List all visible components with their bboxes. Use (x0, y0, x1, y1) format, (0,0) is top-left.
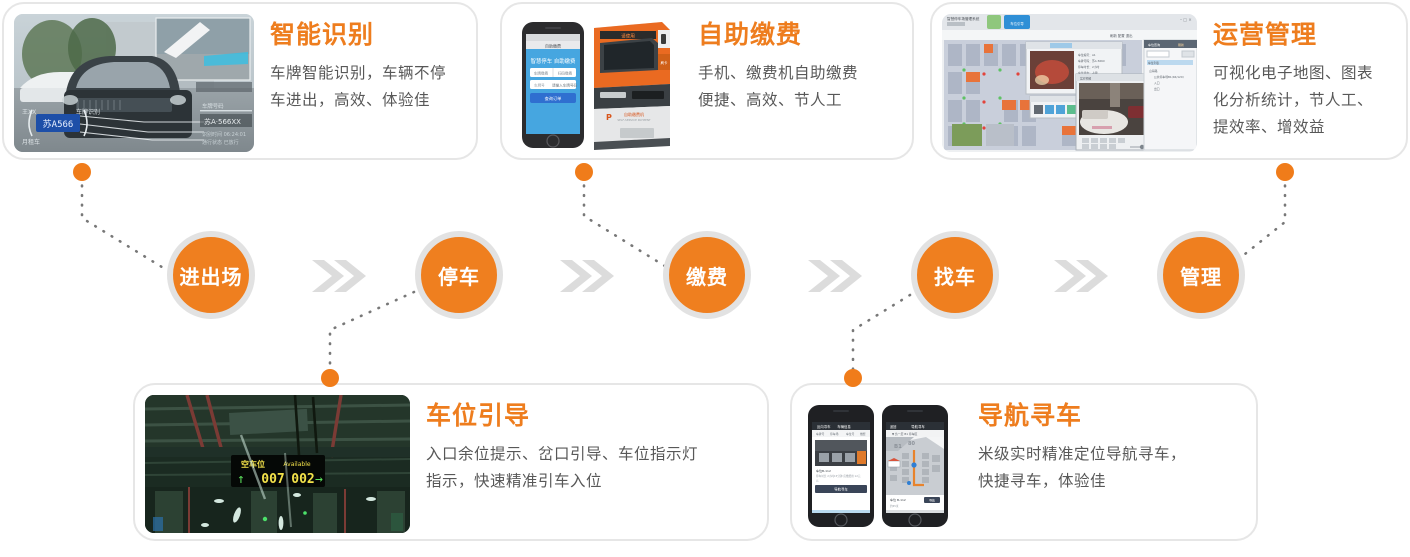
svg-text:停车时长：2小时: 停车时长：2小时 (1078, 65, 1100, 69)
svg-text:通行状态 已放行: 通行状态 已放行 (202, 139, 239, 146)
card-text-block: 自助缴费 手机、缴费机自助缴费 便捷、高效、节人工 (682, 14, 902, 114)
card-title: 车位引导 (426, 403, 757, 431)
svg-text:车位引导: 车位引导 (1010, 21, 1024, 26)
svg-text:苏A566: 苏A566 (43, 118, 74, 130)
svg-text:80: 80 (908, 441, 915, 447)
svg-text:车牌号: 车牌号 (534, 83, 545, 88)
svg-text:车辆信息: 车辆信息 (837, 424, 851, 429)
svg-text:停车时长 2小时15分钟 应缴费用 12元: 停车时长 2小时15分钟 应缴费用 12元 (816, 474, 861, 478)
svg-text:入口: 入口 (1154, 81, 1160, 85)
node-label: 缴费 (686, 261, 728, 290)
card-text-block: 车位引导 入口余位提示、岔口引导、车位指示灯 指示，快速精准引车入位 (410, 395, 757, 495)
timeline-node-find-car[interactable]: 找车 (911, 231, 999, 319)
svg-text:车牌号: 车牌号 (816, 432, 825, 436)
svg-text:识别时间 06:24:01: 识别时间 06:24:01 (202, 131, 246, 138)
svg-text:停车场: 停车场 (830, 432, 839, 436)
card-title: 智能识别 (270, 22, 466, 50)
license-plate-recognition-photo: 苏A566 车牌号码 苏A·566XX 识别时间 06:24:01 通行状态 已… (14, 14, 254, 152)
management-software-screenshot: 智慧停车场管理系统 车位引导 – □ × 刷新 配置 退出 (942, 14, 1197, 152)
svg-text:导航寻车: 导航寻车 (911, 424, 925, 429)
svg-text:导航寻车: 导航寻车 (834, 487, 848, 492)
chevron-double-right-icon-4 (1052, 256, 1110, 296)
svg-text:▼ 负一层 B1 停车区: ▼ 负一层 B1 停车区 (892, 432, 918, 436)
node-label: 停车 (438, 261, 480, 290)
chevron-double-right-icon-1 (310, 256, 368, 296)
svg-text:扫码缴费: 扫码缴费 (558, 71, 573, 76)
payment-kiosk-and-phone-photo: 自助缴费 智慧停车 自助缴费 车牌缴费 扫码缴费 车牌号 请输入车牌号码 查询订… (512, 14, 682, 152)
timeline-node-entry-exit[interactable]: 进出场 (167, 231, 255, 319)
svg-text:请使用: 请使用 (621, 32, 635, 39)
svg-text:元: 元 (816, 480, 819, 483)
svg-text:实时视频: 实时视频 (1080, 77, 1091, 81)
svg-text:缴费: 缴费 (860, 432, 866, 436)
timeline-node-park[interactable]: 停车 (415, 231, 503, 319)
svg-text:车位列表: 车位列表 (1148, 61, 1159, 65)
svg-text:导航: 导航 (929, 498, 935, 502)
chevron-double-right-icon-2 (558, 256, 616, 296)
svg-text:002: 002 (291, 472, 314, 487)
node-label: 找车 (934, 261, 976, 290)
svg-text:返回: 返回 (890, 424, 896, 429)
parking-guidance-led-sign-photo: 空车位 Available ↑ 007 002 → (145, 395, 410, 533)
svg-text:车位 B-112: 车位 B-112 (890, 497, 906, 502)
svg-text:自助缴费机: 自助缴费机 (624, 111, 644, 117)
svg-text:P: P (606, 113, 612, 122)
svg-text:Available: Available (283, 461, 310, 468)
connector-dot-card1 (73, 163, 91, 181)
card-smart-recognition[interactable]: 苏A566 车牌号码 苏A·566XX 识别时间 06:24:01 通行状态 已… (2, 2, 478, 160)
svg-text:反向寻车: 反向寻车 (817, 424, 831, 429)
card-title: 导航寻车 (978, 403, 1246, 431)
svg-text:苏A·566XX: 苏A·566XX (204, 117, 241, 126)
card-self-service-payment[interactable]: 自助缴费 智慧停车 自助缴费 车牌缴费 扫码缴费 车牌号 请输入车牌号码 查询订… (500, 2, 914, 160)
connector-dot-card2 (575, 163, 593, 181)
card-text-block: 运营管理 可视化电子地图、图表 化分析统计，节人工、 提效率、增效益 (1197, 14, 1396, 141)
card-title: 运营管理 (1213, 22, 1396, 50)
infographic-canvas: 苏A566 车牌号码 苏A·566XX 识别时间 06:24:01 通行状态 已… (0, 0, 1410, 557)
card-text-block: 智能识别 车牌智能识别，车辆不停 车进出，高效、体验佳 (254, 14, 466, 114)
svg-text:约65米: 约65米 (890, 504, 899, 508)
card-title: 自助缴费 (698, 22, 902, 50)
card-desc: 手机、缴费机自助缴费 便捷、高效、节人工 (698, 60, 902, 114)
timeline-node-manage[interactable]: 管理 (1157, 231, 1245, 319)
card-desc: 可视化电子地图、图表 化分析统计，节人工、 提效率、增效益 (1213, 60, 1396, 141)
timeline-node-pay[interactable]: 缴费 (663, 231, 751, 319)
svg-text:山海路: 山海路 (1149, 69, 1158, 73)
svg-text:智慧停车场管理系统: 智慧停车场管理系统 (947, 16, 980, 21)
svg-text:请输入车牌号码: 请输入车牌号码 (552, 83, 578, 88)
connector-dot-bottom-card2 (844, 369, 862, 387)
svg-text:王XX: 王XX (22, 109, 36, 116)
node-label: 进出场 (180, 261, 243, 290)
card-desc: 车牌智能识别，车辆不停 车进出，高效、体验佳 (270, 60, 466, 114)
card-text-block: 导航寻车 米级实时精准定位导航寻车， 快捷寻车，体验佳 (962, 395, 1246, 495)
chevron-double-right-icon-3 (806, 256, 864, 296)
svg-text:智慧停车 自助缴费: 智慧停车 自助缴费 (531, 57, 576, 65)
svg-text:公共停车场B1(46/120): 公共停车场B1(46/120) (1154, 75, 1184, 79)
card-desc: 米级实时精准定位导航寻车， 快捷寻车，体验佳 (978, 441, 1246, 495)
svg-text:B1: B1 (894, 444, 902, 450)
svg-text:车牌号码：苏A·566X: 车牌号码：苏A·566X (1078, 59, 1105, 63)
svg-text:出口: 出口 (1154, 87, 1160, 91)
svg-text:→: → (315, 472, 323, 487)
svg-text:刷卡: 刷卡 (661, 60, 668, 65)
card-parking-space-guidance[interactable]: 空车位 Available ↑ 007 002 → (133, 383, 769, 541)
svg-text:车位编号：A1: 车位编号：A1 (1078, 53, 1096, 57)
svg-text:车牌号码: 车牌号码 (202, 102, 224, 110)
svg-text:刷新: 刷新 (1178, 42, 1184, 47)
svg-text:查询订单: 查询订单 (545, 95, 562, 102)
card-operation-management[interactable]: 智慧停车场管理系统 车位引导 – □ × 刷新 配置 退出 (930, 2, 1408, 160)
svg-text:车牌识别: 车牌识别 (76, 108, 100, 116)
svg-text:007: 007 (261, 472, 284, 487)
navigation-app-phones-photo: 反向寻车 车辆信息 车牌号停车场 车位号缴费 车位B-112 停车时长 2小时1… (802, 395, 962, 533)
svg-text:车位B-112: 车位B-112 (816, 468, 831, 473)
svg-text:月租车: 月租车 (22, 138, 40, 146)
svg-text:自助缴费: 自助缴费 (545, 43, 561, 49)
svg-text:↑: ↑ (237, 472, 245, 487)
connector-dot-card3 (1276, 163, 1294, 181)
svg-text:– □ ×: – □ × (1180, 17, 1192, 22)
svg-text:SELF-SERVICE PAYMENT: SELF-SERVICE PAYMENT (617, 118, 651, 122)
svg-text:车位号: 车位号 (846, 432, 855, 436)
card-desc: 入口余位提示、岔口引导、车位指示灯 指示，快速精准引车入位 (426, 441, 757, 495)
card-navigation-find-car[interactable]: 反向寻车 车辆信息 车牌号停车场 车位号缴费 车位B-112 停车时长 2小时1… (790, 383, 1258, 541)
node-label: 管理 (1180, 261, 1222, 290)
svg-text:车位查询: 车位查询 (1148, 42, 1160, 47)
svg-text:刷新 配置 退出: 刷新 配置 退出 (1110, 33, 1133, 38)
svg-text:车牌缴费: 车牌缴费 (534, 71, 549, 76)
connector-dot-bottom-card1 (321, 369, 339, 387)
